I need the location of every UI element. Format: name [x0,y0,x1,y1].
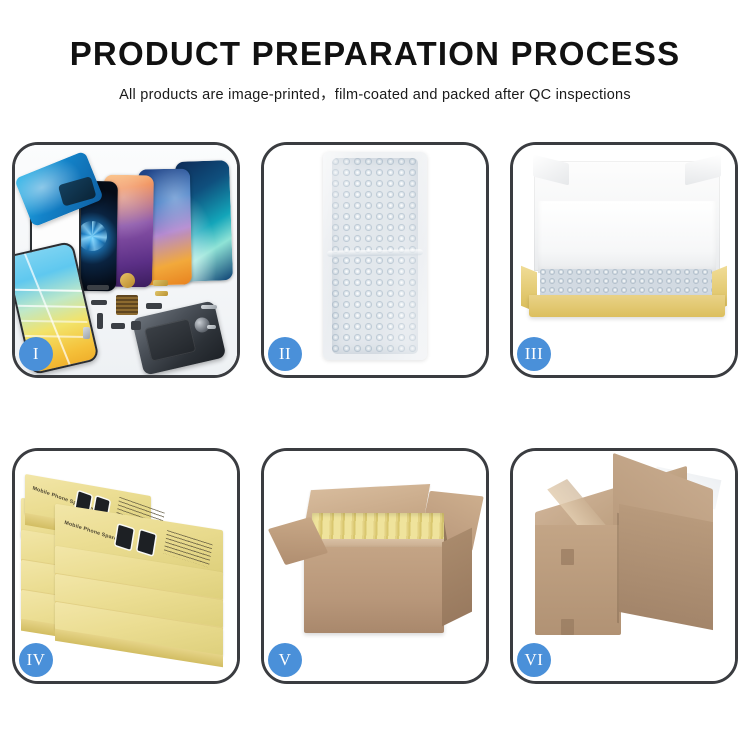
component-button [131,321,141,330]
sealed-carton-tab-upper [561,549,574,565]
component-speaker [111,323,125,329]
process-step-panel-6: VI [510,448,738,684]
step-4-photo: Mobile Phone Spare Parts Mobile Phone Sp… [15,451,237,681]
step-badge-1: I [19,337,53,371]
step-badge-3: III [517,337,551,371]
component-bracket [91,300,107,305]
sealed-carton-side-face [619,504,713,630]
component-flex-cable-small [155,291,168,296]
component-sim-tray [83,327,90,339]
step-badge-4: IV [19,643,53,677]
component-connector-strip [87,285,109,290]
bubble-wrap-package [323,152,427,360]
sealed-carton-corner-seam [617,513,619,623]
step-3-photo: III [513,145,735,375]
step-badge-2: II [268,337,302,371]
component-vibrator [97,313,103,329]
retail-box-stack: Mobile Phone Spare Parts Mobile Phone Sp… [21,473,235,663]
page-title: PRODUCT PREPARATION PROCESS [0,0,750,72]
component-tweezers [201,305,217,309]
step-1-photo: I [15,145,237,375]
carton-side-face [442,528,472,627]
step-6-photo: VI [513,451,735,681]
process-step-panel-2: II [261,142,489,378]
retail-box-thumbnail-2a [115,525,133,550]
component-flex-cable [153,280,168,286]
process-step-panel-4: Mobile Phone Spare Parts Mobile Phone Sp… [12,448,240,684]
product-preparation-infographic: PRODUCT PREPARATION PROCESS All products… [0,0,750,750]
step-2-photo: II [264,145,486,375]
bubble-wrap-sheen [323,152,427,360]
component-ic-grid [116,295,138,315]
inner-box-front-wall [529,295,725,317]
component-gold-ring [120,273,135,288]
process-step-grid: I II III [12,142,738,684]
page-subtitle: All products are image-printed，film-coat… [0,72,750,104]
process-step-panel-1: I [12,142,240,378]
sealed-carton-front-face [535,525,621,635]
process-step-panel-5: V [261,448,489,684]
carton-front-face [304,547,444,633]
component-screw [207,325,216,329]
step-badge-6: VI [517,643,551,677]
component-camera-flex [146,303,162,309]
process-step-panel-3: III [510,142,738,378]
sealed-carton-tab-lower [561,619,574,635]
step-badge-5: V [268,643,302,677]
header: PRODUCT PREPARATION PROCESS All products… [0,0,750,104]
retail-box-thumbnail-2b [137,530,155,555]
inner-box-foam [538,201,716,273]
step-5-photo: V [264,451,486,681]
